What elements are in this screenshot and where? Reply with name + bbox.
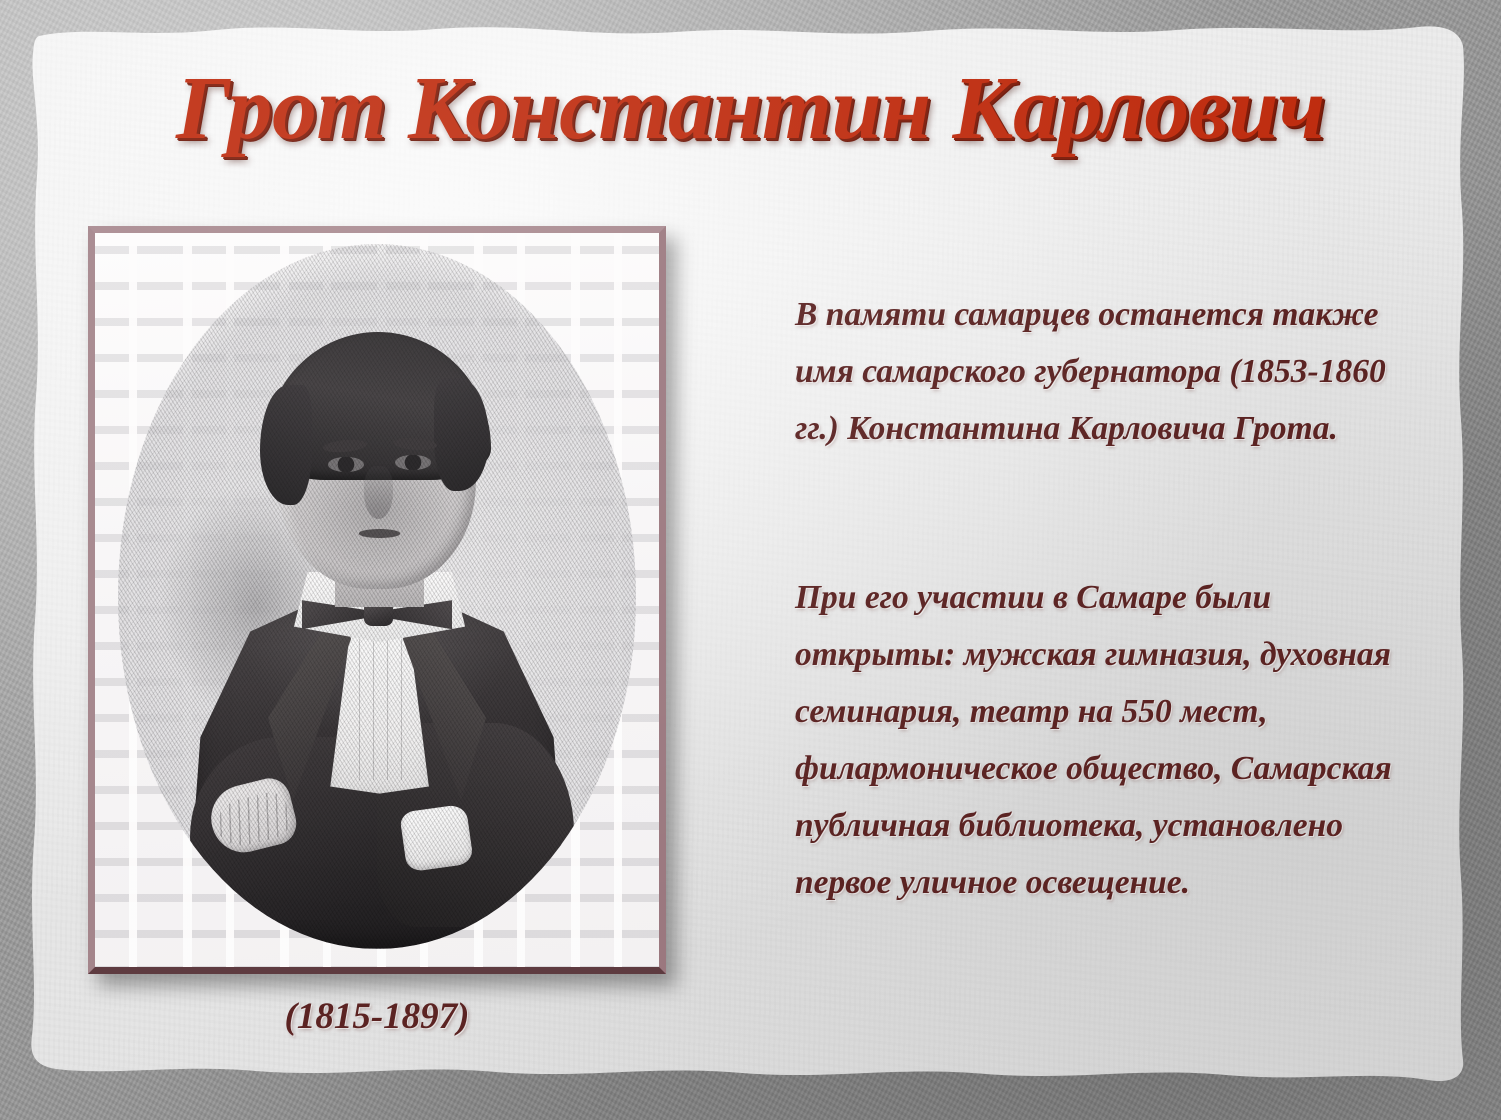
portrait-mouth bbox=[359, 529, 401, 537]
portrait-eye-left bbox=[328, 457, 364, 472]
portrait-nose bbox=[364, 466, 393, 519]
portrait-block bbox=[88, 226, 666, 974]
portrait-hair-right bbox=[434, 378, 488, 491]
portrait-caption: (1815-1897) bbox=[88, 995, 666, 1038]
body-paragraph-1: В памяти самарцев останется также имя са… bbox=[795, 286, 1435, 457]
portrait-frame bbox=[88, 226, 666, 974]
page-title: Грот Константин Карлович bbox=[0, 62, 1501, 157]
body-paragraph-2: При его участии в Самаре были открыты: м… bbox=[795, 569, 1435, 911]
slide-root: Грот Константин Карлович bbox=[0, 0, 1501, 1120]
body-copy: В памяти самарцев останется также имя са… bbox=[795, 252, 1435, 944]
portrait-hair-left bbox=[260, 385, 312, 505]
portrait-shirt-pleats bbox=[346, 639, 413, 780]
portrait-oval-vignette bbox=[118, 244, 637, 949]
portrait-cuff bbox=[399, 803, 474, 872]
